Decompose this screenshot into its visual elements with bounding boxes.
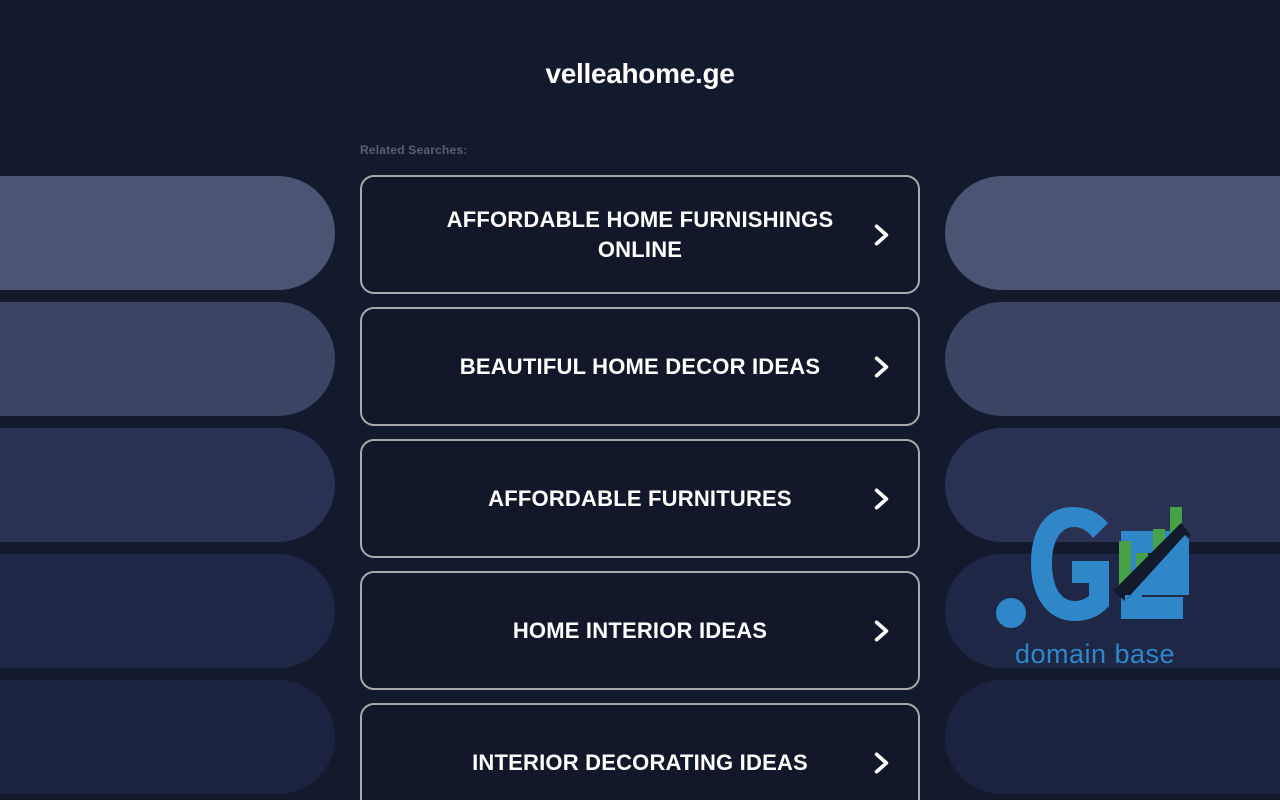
- chevron-right-icon[interactable]: [868, 486, 894, 512]
- landing-page: velleahome.ge Related Searches: AFFORDAB…: [0, 0, 1280, 800]
- related-search-label: AFFORDABLE HOME FURNISHINGS ONLINE: [425, 205, 855, 265]
- related-search-label: INTERIOR DECORATING IDEAS: [472, 748, 808, 778]
- related-search-label: AFFORDABLE FURNITURES: [488, 484, 792, 514]
- chevron-right-icon[interactable]: [868, 618, 894, 644]
- related-search-button[interactable]: HOME INTERIOR IDEAS: [360, 571, 920, 690]
- related-searches-label: Related Searches:: [360, 143, 467, 157]
- chevron-right-icon[interactable]: [868, 222, 894, 248]
- page-title: velleahome.ge: [0, 58, 1280, 90]
- related-search-label: BEAUTIFUL HOME DECOR IDEAS: [460, 352, 820, 382]
- related-search-button[interactable]: BEAUTIFUL HOME DECOR IDEAS: [360, 307, 920, 426]
- chevron-right-icon[interactable]: [868, 354, 894, 380]
- related-search-label: HOME INTERIOR IDEAS: [513, 616, 767, 646]
- related-search-button[interactable]: AFFORDABLE HOME FURNISHINGS ONLINE: [360, 175, 920, 294]
- related-search-button[interactable]: INTERIOR DECORATING IDEAS: [360, 703, 920, 800]
- chevron-right-icon[interactable]: [868, 750, 894, 776]
- related-searches-list: AFFORDABLE HOME FURNISHINGS ONLINEBEAUTI…: [360, 175, 920, 800]
- page-content: velleahome.ge Related Searches: AFFORDAB…: [0, 0, 1280, 800]
- related-search-button[interactable]: AFFORDABLE FURNITURES: [360, 439, 920, 558]
